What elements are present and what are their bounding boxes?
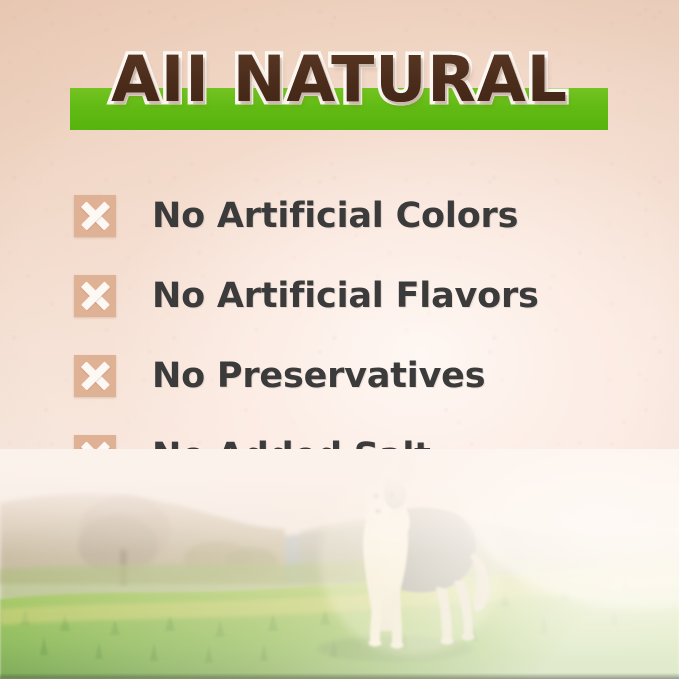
claim-row: No Artificial Colors <box>0 176 679 256</box>
dog-field-photo <box>0 449 679 679</box>
photo-illustration <box>0 449 679 679</box>
x-mark-icon <box>74 195 116 237</box>
x-mark-icon <box>74 355 116 397</box>
claim-row: No Artificial Flavors <box>0 256 679 336</box>
all-natural-banner: AII NATURAL AII NATURAL No Artificial Co… <box>0 0 679 679</box>
claim-label: No Preservatives <box>152 356 485 396</box>
header-title-block: AII NATURAL AII NATURAL <box>0 44 679 144</box>
claim-row: No Preservatives <box>0 336 679 416</box>
page-title: AII NATURAL <box>0 44 679 116</box>
claim-label: No Artificial Flavors <box>152 276 539 316</box>
claims-list: No Artificial Colors No Artificial Flavo… <box>0 176 679 496</box>
x-mark-icon <box>74 275 116 317</box>
claim-label: No Artificial Colors <box>152 196 518 236</box>
